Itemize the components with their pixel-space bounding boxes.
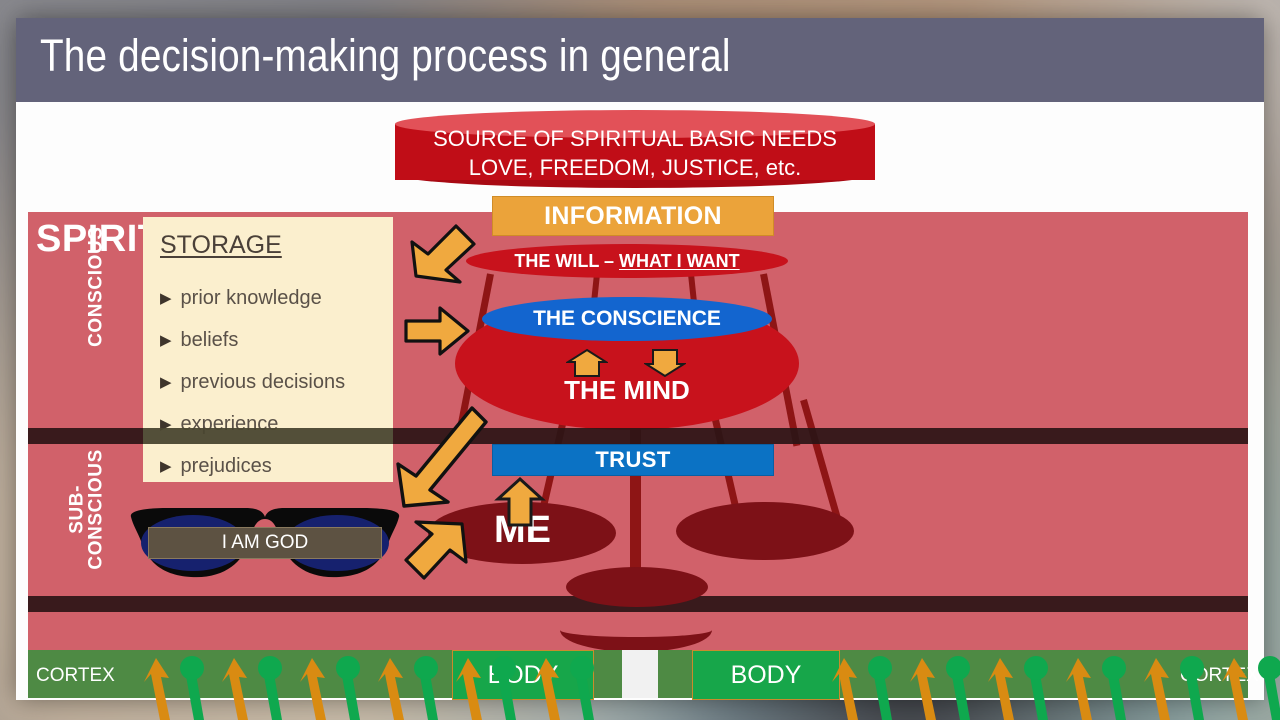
middle-ellipse	[566, 567, 708, 607]
triangle-bullet-icon: ▶	[160, 375, 172, 390]
slide-stage: The decision-making process in general S…	[0, 0, 1280, 720]
arrow-right-middle-icon	[404, 305, 470, 357]
source-cylinder-text: SOURCE OF SPIRITUAL BASIC NEEDS LOVE, FR…	[395, 124, 875, 182]
right-ellipse	[676, 502, 854, 560]
level-label-subconscious-line2: CONSCIOUS	[86, 449, 107, 569]
source-cylinder: SOURCE OF SPIRITUAL BASIC NEEDS LOVE, FR…	[395, 110, 875, 188]
storage-item-label: prejudices	[181, 455, 272, 478]
conscience-label: THE CONSCIENCE	[533, 307, 721, 331]
arrow-up-right-lower-icon	[400, 518, 472, 582]
storage-item-label: previous decisions	[181, 371, 346, 394]
level-label-subconscious-line1: SUB-	[67, 485, 88, 534]
level-label-conscious: CONSCIOUS	[86, 217, 105, 357]
triangle-bullet-icon: ▶	[160, 333, 172, 348]
source-line-2: LOVE, FREEDOM, JUSTICE, etc.	[395, 153, 875, 182]
trust-label: TRUST	[595, 447, 670, 473]
will-label: THE WILL – WHAT I WANT	[514, 251, 739, 272]
information-label: INFORMATION	[544, 202, 722, 231]
storage-title: STORAGE	[160, 231, 282, 260]
level-label-subconscious: SUB- CONSCIOUS	[68, 434, 107, 584]
storage-item-label: prior knowledge	[181, 287, 322, 310]
mini-arrow-up-icon	[566, 348, 600, 378]
will-emphasis: WHAT I WANT	[619, 251, 740, 271]
i-am-god-bar: I AM GOD	[148, 527, 382, 559]
source-line-1: SOURCE OF SPIRITUAL BASIC NEEDS	[395, 124, 875, 153]
sensory-input-arrows	[0, 640, 1280, 720]
list-item: ▶ previous decisions	[160, 361, 390, 403]
conscience-ellipse: THE CONSCIENCE	[482, 297, 772, 341]
trust-bar: TRUST	[492, 444, 774, 476]
list-item: ▶ prejudices	[160, 445, 390, 487]
storage-item-label: beliefs	[181, 329, 239, 352]
list-item: ▶ beliefs	[160, 319, 390, 361]
information-bar: INFORMATION	[492, 196, 774, 236]
mini-arrow-down-icon	[644, 348, 678, 378]
arrow-down-left-top-icon	[406, 224, 478, 286]
will-prefix: THE WILL –	[514, 251, 619, 271]
will-ellipse: THE WILL – WHAT I WANT	[466, 244, 788, 278]
triangle-bullet-icon: ▶	[160, 459, 172, 474]
triangle-bullet-icon: ▶	[160, 291, 172, 306]
page-title: The decision-making process in general	[40, 30, 731, 82]
me-arrow-up-icon	[494, 477, 528, 507]
i-am-god-label: I AM GOD	[222, 532, 309, 554]
arrow-down-left-long-icon	[386, 402, 490, 514]
list-item: ▶ prior knowledge	[160, 277, 390, 319]
mind-label: THE MIND	[455, 375, 799, 406]
divider-through-storage	[143, 428, 393, 444]
storage-list: ▶ prior knowledge ▶ beliefs ▶ previous d…	[160, 277, 390, 487]
